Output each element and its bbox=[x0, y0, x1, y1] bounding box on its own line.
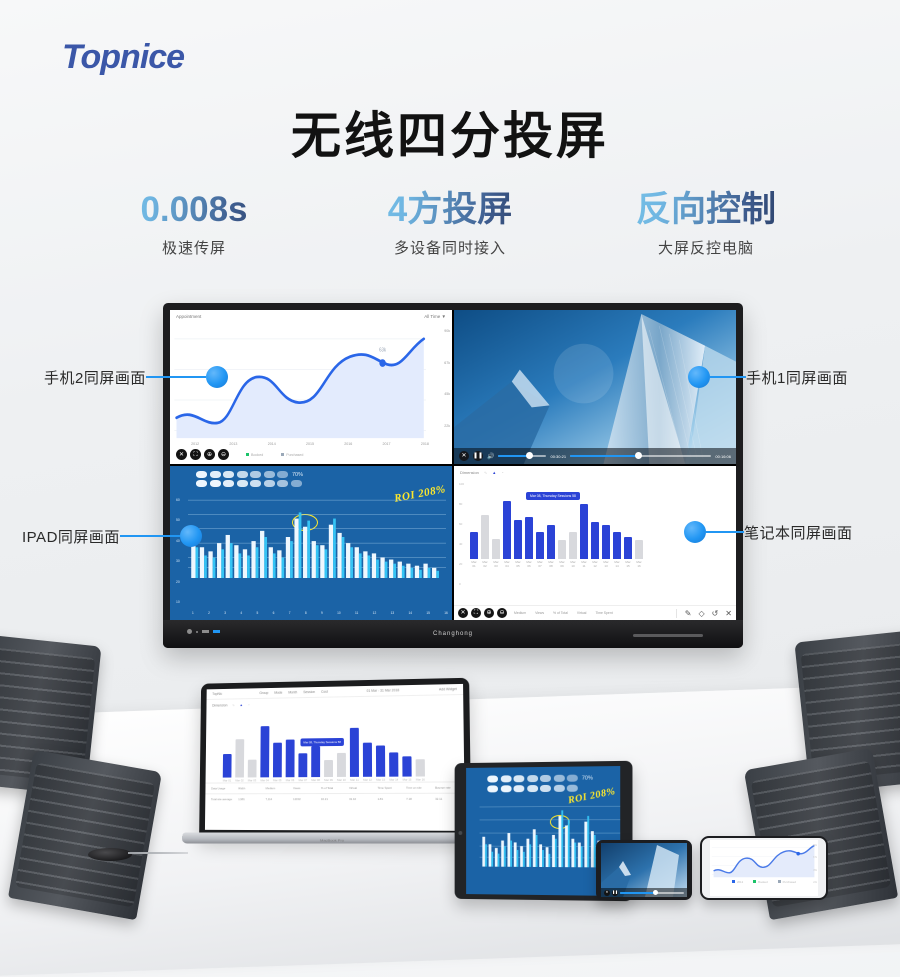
chart-type-pie-icon[interactable]: ◔ bbox=[501, 470, 503, 475]
legend-item-booked: Booked bbox=[753, 880, 768, 884]
close-icon[interactable]: ✕ bbox=[458, 608, 468, 618]
feature-item-1: 4方投屏 多设备同时接入 bbox=[350, 190, 550, 258]
roi-bar-chart-svg bbox=[188, 496, 446, 578]
phone-chart-y-axis: 90k 67k 45k 22k bbox=[813, 844, 817, 884]
phone-chart-device: 2012 Booked Purchased 90k 67k 45k 22k bbox=[700, 836, 828, 900]
feature-list: 0.008s 极速传屏 4方投屏 多设备同时接入 反向控制 大屏反控电脑 bbox=[0, 190, 900, 258]
callout-line bbox=[120, 535, 180, 537]
zoom-in-icon[interactable]: ⊕ bbox=[484, 608, 494, 618]
chart-type-bar-icon[interactable]: ▲ bbox=[492, 470, 496, 475]
feature-item-0: 0.008s 极速传屏 bbox=[94, 190, 294, 258]
conference-microphone bbox=[88, 848, 132, 861]
table-col-time-spent: Time Spent bbox=[377, 786, 400, 790]
phone-line-chart-svg bbox=[710, 840, 818, 880]
laptop-screen[interactable]: TopNic Group Mode Month Session Cost 01 … bbox=[205, 684, 465, 831]
legend-item-purchased: Purchased bbox=[778, 880, 796, 884]
pause-icon[interactable]: ❚❚ bbox=[612, 890, 618, 896]
table-col-percent: % of Total bbox=[321, 786, 343, 790]
quadrant-4-toolbar: ✕ ⛶ ⊕ ⊖ Medium Views % of Total Virtual … bbox=[454, 605, 736, 620]
bar-dashboard-tooltip: Mar 08, Thursday Sessions 58 bbox=[526, 492, 580, 500]
laptop-table-header: Data Usage Width Medium Views % of Total… bbox=[205, 781, 464, 793]
laptop-menu-mode[interactable]: Mode bbox=[274, 691, 282, 695]
phone-video-screen[interactable]: ✕ ❚❚ bbox=[601, 843, 687, 897]
roi-x-axis: 12 34 56 78 910 1112 1314 1516 bbox=[192, 611, 448, 615]
bar-dashboard-x-axis: Mar 01Mar 02 Mar 03Mar 04 Mar 05Mar 06 M… bbox=[454, 559, 736, 568]
phone-video-device: ✕ ❚❚ bbox=[596, 840, 692, 900]
feature-value: 4方投屏 bbox=[350, 190, 550, 230]
table-col-width: Width bbox=[238, 786, 260, 790]
pen-icon[interactable]: ✎ bbox=[685, 609, 692, 618]
callout-dot bbox=[180, 525, 202, 547]
fullscreen-icon[interactable]: ⛶ bbox=[190, 449, 201, 460]
roi-percent-label: 70% bbox=[292, 472, 303, 478]
zoom-in-icon[interactable]: ⊕ bbox=[204, 449, 215, 460]
callout-line bbox=[710, 376, 746, 378]
phone-chart-marker bbox=[796, 852, 800, 856]
phone-video-progress-slider[interactable] bbox=[620, 892, 684, 894]
tv-stand-bar bbox=[633, 634, 703, 637]
laptop-device: TopNic Group Mode Month Session Cost 01 … bbox=[196, 680, 468, 850]
line-chart-marker[interactable] bbox=[379, 359, 386, 367]
laptop-menu-month[interactable]: Month bbox=[288, 690, 297, 694]
quadrant-1-toolbar: ✕ ⛶ ⊕ ⊖ Booked Purchased bbox=[170, 447, 452, 464]
feature-caption: 极速传屏 bbox=[94, 237, 294, 258]
phone-chart-screen[interactable]: 2012 Booked Purchased 90k 67k 45k 22k bbox=[710, 840, 818, 896]
eraser-icon[interactable]: ◇ bbox=[698, 609, 704, 618]
pause-icon[interactable]: ❚❚ bbox=[473, 451, 483, 461]
callout-phone1: 手机1同屏画面 bbox=[688, 366, 848, 388]
legend-item-purchased: Purchased bbox=[281, 453, 303, 457]
menu-item-medium[interactable]: Medium bbox=[514, 611, 526, 615]
chevron-down-icon: ▼ bbox=[442, 314, 446, 319]
tablet-percent-label: 70% bbox=[582, 775, 593, 781]
bar-dashboard-y-axis: 10080 6040 200 bbox=[459, 482, 464, 586]
phone-video-controls: ✕ ❚❚ bbox=[601, 888, 687, 897]
chart-type-line-icon[interactable]: ∿ bbox=[232, 703, 235, 707]
feature-caption: 多设备同时接入 bbox=[350, 237, 550, 258]
callout-label: 手机2同屏画面 bbox=[44, 367, 146, 388]
bar-dashboard-title: Dimension bbox=[460, 470, 479, 475]
laptop-date-range[interactable]: 01 Mar - 31 Mar 2018 bbox=[367, 688, 400, 693]
callout-dot bbox=[684, 521, 706, 543]
line-chart-marker-label: 63k bbox=[379, 347, 387, 353]
fullscreen-icon[interactable]: ⛶ bbox=[471, 608, 481, 618]
laptop-add-widget-button[interactable]: Add Widget bbox=[439, 687, 457, 691]
laptop-base: MacBook Pro bbox=[181, 833, 482, 844]
video-player-controls: ✕ ❚❚ 🔊 00:30:21 00:16:06 bbox=[454, 448, 736, 464]
close-icon[interactable]: ✕ bbox=[176, 449, 187, 460]
zoom-out-icon[interactable]: ⊖ bbox=[497, 608, 507, 618]
laptop-chart-title: Dimension bbox=[212, 703, 227, 707]
laptop-app-title: TopNic bbox=[212, 692, 222, 696]
menu-item-percent-of-total[interactable]: % of Total bbox=[553, 611, 568, 615]
callout-line bbox=[706, 531, 744, 533]
feature-caption: 大屏反控电脑 bbox=[606, 237, 806, 258]
callout-label: 手机1同屏画面 bbox=[746, 367, 848, 388]
table-col-time-on-site: Time on site bbox=[406, 786, 429, 790]
callout-dot bbox=[206, 366, 228, 388]
video-progress-slider[interactable] bbox=[570, 455, 711, 457]
legend-item-booked: Booked bbox=[246, 453, 263, 457]
callout-phone2: 手机2同屏画面 bbox=[44, 366, 228, 388]
line-chart-y-axis: 90k 67k 45k 22k bbox=[444, 329, 450, 428]
close-icon[interactable]: ✕ bbox=[604, 890, 610, 896]
laptop-menu-session[interactable]: Session bbox=[303, 690, 315, 694]
legend-item-0: 2012 bbox=[732, 880, 743, 884]
chart-type-bar-icon[interactable]: ▲ bbox=[240, 703, 243, 707]
bar-dashboard-header: Dimension ∿ ▲ ◔ bbox=[454, 466, 736, 475]
chart-type-line-icon[interactable]: ∿ bbox=[484, 470, 487, 475]
microphone-stem bbox=[128, 852, 188, 854]
laptop-menu-group[interactable]: Group bbox=[259, 691, 268, 695]
feature-value: 0.008s bbox=[94, 190, 294, 230]
tablet-camera-icon bbox=[458, 831, 462, 835]
tablet-hex-row-top: 70% bbox=[466, 766, 620, 783]
line-chart-title: Appointment bbox=[176, 314, 201, 319]
tv-port-indicators bbox=[187, 629, 220, 634]
callout-label: IPAD同屏画面 bbox=[22, 526, 120, 547]
page-headline: 无线四分投屏 bbox=[0, 96, 900, 168]
quadrant-ipad-roi-chart[interactable]: 70% ROI 208% 6050 4030 2010 bbox=[170, 466, 452, 620]
line-chart-header: Appointment All Time ▼ bbox=[170, 310, 452, 321]
tv-brand-label: Changhong bbox=[433, 631, 473, 637]
laptop-chart-tooltip: Mar 08, Thursday Sessions 58 bbox=[300, 738, 343, 746]
interactive-flat-panel-tv: Appointment All Time ▼ bbox=[163, 303, 743, 648]
hex-row-top: 70% bbox=[170, 466, 452, 478]
callout-dot bbox=[688, 366, 710, 388]
close-icon[interactable]: ✕ bbox=[725, 609, 732, 618]
menu-item-views[interactable]: Views bbox=[535, 611, 544, 615]
quadrant-laptop-bar-dashboard[interactable]: Dimension ∿ ▲ ◔ Mar 08, Thursday Session… bbox=[454, 466, 736, 620]
hex-row-bottom bbox=[170, 478, 452, 487]
tv-bottom-bezel: Changhong bbox=[163, 620, 743, 648]
office-chair-left-front bbox=[8, 750, 162, 920]
annotation-toolbar: ✎ ◇ ↺ ✕ bbox=[676, 609, 732, 618]
callout-ipad: IPAD同屏画面 bbox=[22, 525, 202, 547]
callout-laptop: 笔记本同屏画面 bbox=[684, 521, 853, 543]
callout-line bbox=[146, 376, 206, 378]
chart-type-pie-icon[interactable]: ◔ bbox=[248, 703, 250, 707]
table-col-views: Views bbox=[293, 786, 315, 790]
line-chart-range-selector[interactable]: All Time ▼ bbox=[424, 314, 446, 319]
callout-label: 笔记本同屏画面 bbox=[744, 522, 853, 543]
table-col-virtual: Virtual bbox=[349, 786, 371, 790]
laptop-brand-label: MacBook Pro bbox=[181, 838, 482, 843]
feature-value: 反向控制 bbox=[606, 190, 806, 230]
table-col-medium: Medium bbox=[266, 786, 288, 790]
brand-logo: Topnice bbox=[62, 38, 184, 77]
roi-y-axis: 6050 4030 2010 bbox=[176, 498, 180, 604]
table-col-data-usage: Data Usage bbox=[211, 786, 232, 790]
volume-icon[interactable]: 🔊 bbox=[487, 453, 494, 460]
menu-item-virtual[interactable]: Virtual bbox=[577, 611, 587, 615]
tv-screen: Appointment All Time ▼ bbox=[170, 310, 736, 620]
bar-dashboard-menu: Medium Views % of Total Virtual Time Spe… bbox=[514, 611, 613, 615]
laptop-lid: TopNic Group Mode Month Session Cost 01 … bbox=[199, 678, 471, 839]
bar-dashboard-bars bbox=[454, 481, 736, 559]
video-total-time: 00:16:06 bbox=[715, 454, 731, 459]
line-chart-legend: Booked Purchased bbox=[246, 453, 303, 457]
menu-item-time-spent[interactable]: Time Spent bbox=[595, 611, 612, 615]
volume-slider[interactable] bbox=[498, 455, 546, 457]
phone-chart-legend: 2012 Booked Purchased bbox=[710, 880, 818, 884]
zoom-out-icon[interactable]: ⊖ bbox=[218, 449, 229, 460]
table-row: Total site average 1,981 7,114 12032 16.… bbox=[205, 793, 464, 804]
laptop-menu-cost[interactable]: Cost bbox=[321, 690, 328, 694]
video-current-time: 00:30:21 bbox=[550, 454, 566, 459]
feature-item-2: 反向控制 大屏反控电脑 bbox=[606, 190, 806, 258]
undo-icon[interactable]: ↺ bbox=[712, 609, 719, 618]
close-icon[interactable]: ✕ bbox=[459, 451, 469, 461]
